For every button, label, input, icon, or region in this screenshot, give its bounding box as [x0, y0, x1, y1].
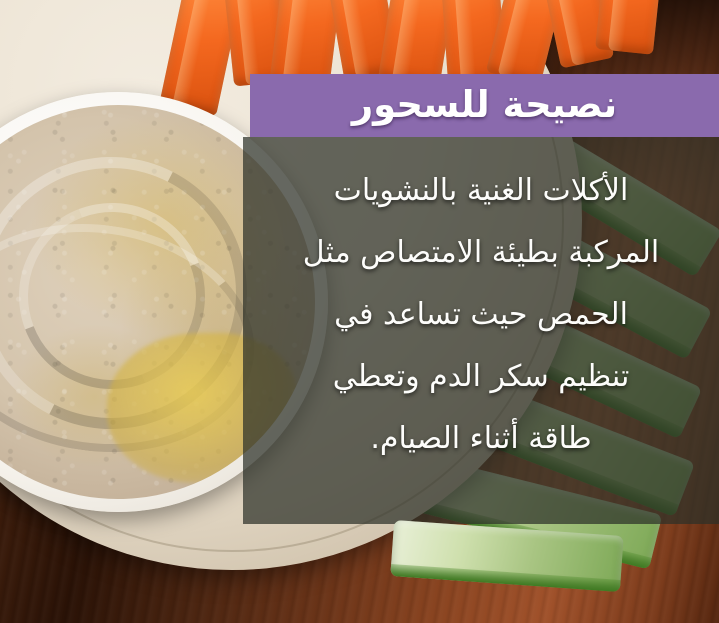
body-text-line: الحمص حيث تساعد في — [257, 284, 705, 346]
title-banner: نصيحة للسحور — [250, 74, 719, 137]
poster-body-text: الأكلات الغنية بالنشويات المركبة بطيئة ا… — [243, 160, 719, 470]
body-text-line: الأكلات الغنية بالنشويات — [257, 160, 705, 222]
body-text-line: المركبة بطيئة الامتصاص مثل — [257, 222, 705, 284]
poster-title: نصيحة للسحور — [352, 83, 617, 129]
recipe-tip-poster: نصيحة للسحور الأكلات الغنية بالنشويات ال… — [0, 0, 719, 623]
carrot-stick — [595, 0, 663, 55]
body-text-line: طاقة أثناء الصيام. — [257, 408, 705, 470]
body-text-line: تنظيم سكر الدم وتعطي — [257, 346, 705, 408]
